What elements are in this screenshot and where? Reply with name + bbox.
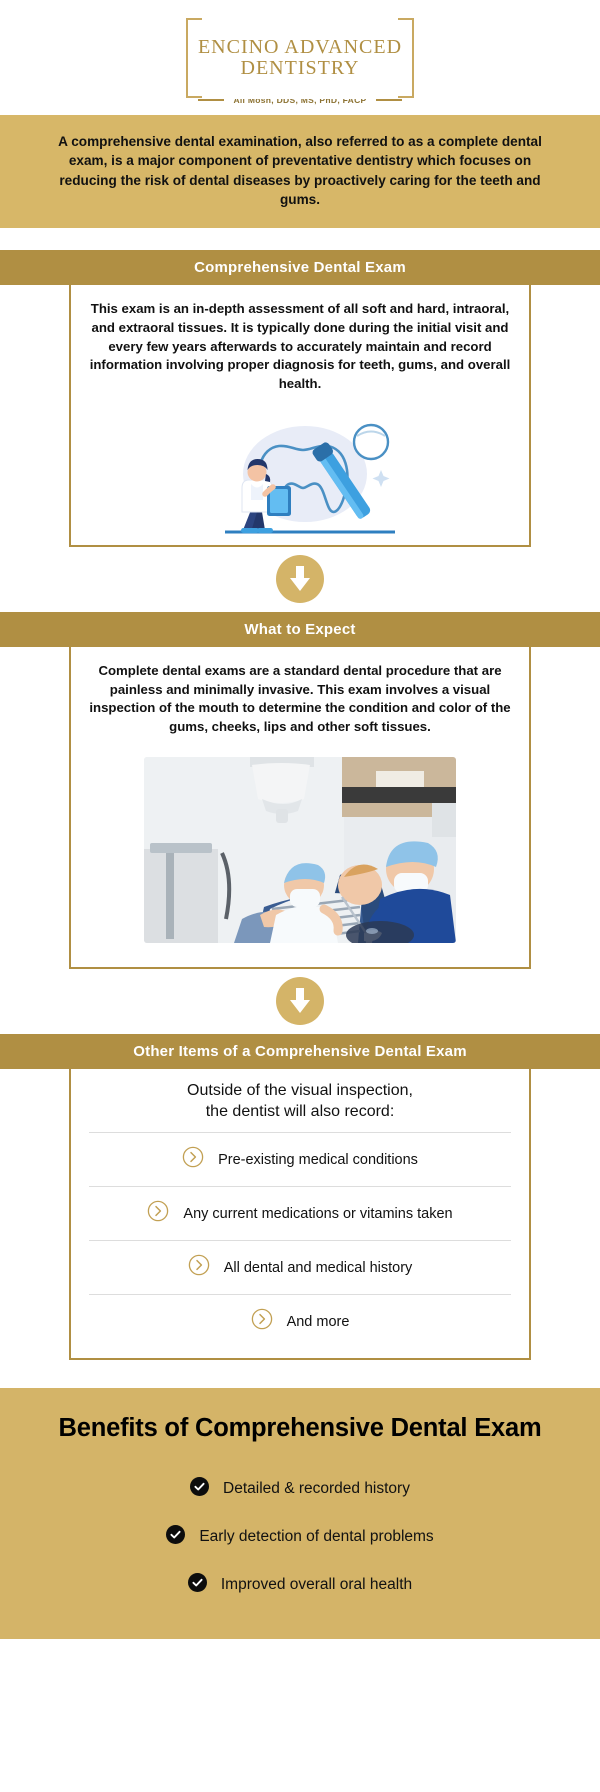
infographic-page: ENCINO ADVANCED DENTISTRY Ali Mosh, DDS,… <box>0 0 600 1792</box>
list-item-label: All dental and medical history <box>224 1260 413 1276</box>
logo-frame: ENCINO ADVANCED DENTISTRY Ali Mosh, DDS,… <box>186 18 414 98</box>
card-1-title: Comprehensive Dental Exam <box>0 250 600 285</box>
card-1-frame: This exam is an in-depth assessment of a… <box>69 285 531 547</box>
arrow-down-1 <box>0 547 600 612</box>
dental-exam-illustration <box>71 410 529 545</box>
other-items-list: Pre-existing medical conditions Any curr… <box>71 1132 529 1358</box>
dental-office-photo-wrap <box>71 753 529 945</box>
dental-office-photo <box>144 757 456 943</box>
card-2-title: What to Expect <box>0 612 600 647</box>
logo-rule-left <box>198 99 224 101</box>
logo-line-2: DENTISTRY <box>241 58 360 78</box>
card-what-to-expect: What to Expect Complete dental exams are… <box>0 612 600 969</box>
card-3-title: Other Items of a Comprehensive Dental Ex… <box>0 1034 600 1069</box>
list-item[interactable]: Any current medications or vitamins take… <box>89 1186 511 1240</box>
card-comprehensive-dental-exam: Comprehensive Dental Exam This exam is a… <box>0 250 600 547</box>
spacer <box>0 228 600 250</box>
card-3-lead: Outside of the visual inspection, the de… <box>71 1069 529 1133</box>
chevron-right-circle-icon <box>188 1254 210 1281</box>
benefits-section: Benefits of Comprehensive Dental Exam De… <box>0 1388 600 1639</box>
logo-header: ENCINO ADVANCED DENTISTRY Ali Mosh, DDS,… <box>0 0 600 115</box>
check-circle-icon <box>188 1573 207 1597</box>
benefits-title: Benefits of Comprehensive Dental Exam <box>20 1414 580 1443</box>
intro-banner: A comprehensive dental examination, also… <box>0 115 600 228</box>
benefit-label: Improved overall oral health <box>221 1576 412 1594</box>
benefit-item: Early detection of dental problems <box>20 1513 580 1561</box>
list-item-label: Pre-existing medical conditions <box>218 1152 418 1168</box>
spacer <box>0 1360 600 1388</box>
logo-line-1: ENCINO ADVANCED <box>198 37 402 57</box>
list-item[interactable]: All dental and medical history <box>89 1240 511 1294</box>
card-other-items: Other Items of a Comprehensive Dental Ex… <box>0 1034 600 1361</box>
benefit-item: Detailed & recorded history <box>20 1465 580 1513</box>
chevron-right-circle-icon <box>147 1200 169 1227</box>
card-2-body: Complete dental exams are a standard den… <box>71 647 529 753</box>
arrow-down-icon <box>276 555 324 603</box>
chevron-right-circle-icon <box>251 1308 273 1335</box>
spacer <box>71 945 529 967</box>
list-item[interactable]: Pre-existing medical conditions <box>89 1132 511 1186</box>
card-3-lead-line-1: Outside of the visual inspection, <box>81 1081 519 1102</box>
benefit-label: Detailed & recorded history <box>223 1480 410 1498</box>
logo-subtitle-row: Ali Mosh, DDS, MS, PhD, FACP <box>188 95 412 105</box>
card-2-frame: Complete dental exams are a standard den… <box>69 647 531 969</box>
benefit-item: Improved overall oral health <box>20 1561 580 1609</box>
card-3-frame: Outside of the visual inspection, the de… <box>69 1069 531 1361</box>
check-circle-icon <box>190 1477 209 1501</box>
logo-rule-right <box>376 99 402 101</box>
card-3-lead-line-2: the dentist will also record: <box>81 1102 519 1123</box>
arrow-down-icon <box>276 977 324 1025</box>
check-circle-icon <box>166 1525 185 1549</box>
list-item-label: And more <box>287 1314 350 1330</box>
logo-subtitle: Ali Mosh, DDS, MS, PhD, FACP <box>230 95 369 105</box>
chevron-right-circle-icon <box>182 1146 204 1173</box>
arrow-down-2 <box>0 969 600 1034</box>
benefit-label: Early detection of dental problems <box>199 1528 433 1546</box>
list-item-label: Any current medications or vitamins take… <box>183 1206 452 1222</box>
card-1-body: This exam is an in-depth assessment of a… <box>71 285 529 410</box>
list-item[interactable]: And more <box>89 1294 511 1348</box>
